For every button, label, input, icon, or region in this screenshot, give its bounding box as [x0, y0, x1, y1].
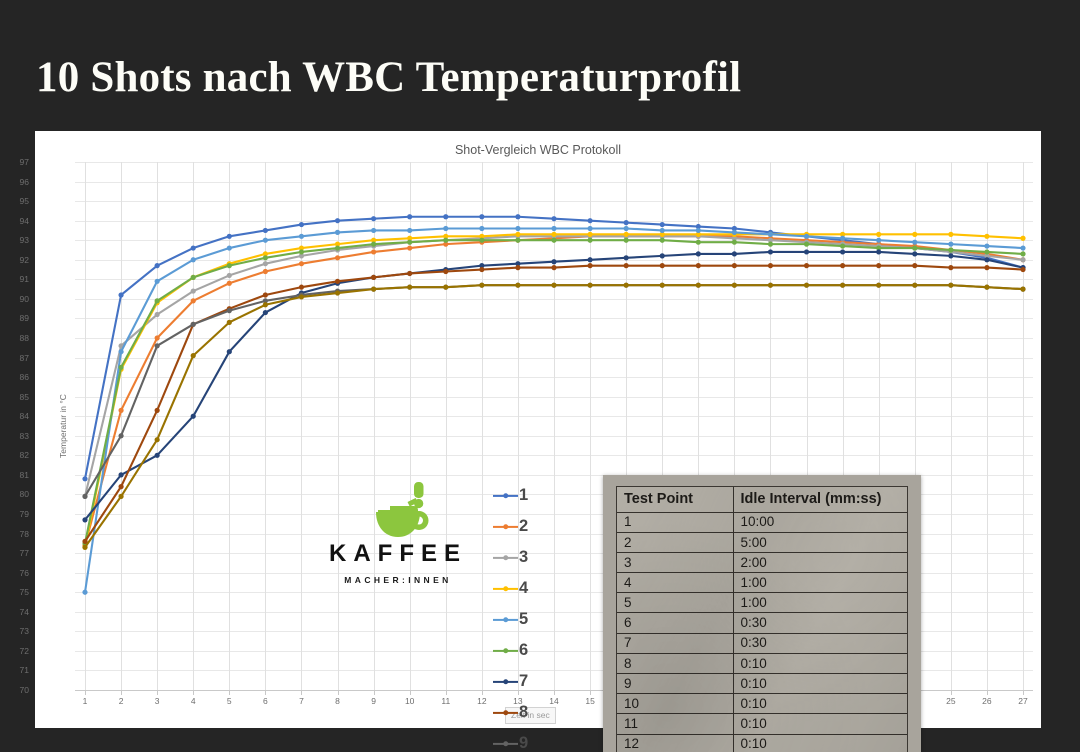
legend-item-label: 5 — [519, 611, 528, 628]
data-point — [984, 249, 989, 254]
data-point — [551, 265, 556, 270]
x-axis-tick-mark — [374, 690, 375, 695]
data-point — [82, 476, 87, 481]
data-point — [840, 249, 845, 254]
data-point — [227, 273, 232, 278]
data-point — [371, 216, 376, 221]
data-point — [155, 298, 160, 303]
data-point — [984, 285, 989, 290]
data-point — [263, 310, 268, 315]
cell-idle-interval: 10:00 — [733, 512, 907, 532]
x-axis-tick-mark — [482, 690, 483, 695]
table-row: 25:00 — [617, 532, 907, 552]
cell-idle-interval: 0:10 — [733, 714, 907, 734]
y-axis-tick-label: 87 — [3, 353, 29, 363]
chart-series-9 — [82, 283, 1025, 499]
data-point — [371, 275, 376, 280]
data-point — [227, 245, 232, 250]
coffee-cup-exclamation-icon — [318, 480, 478, 538]
x-axis-tick-label: 2 — [106, 696, 136, 706]
data-point — [587, 263, 592, 268]
data-point — [407, 285, 412, 290]
data-point — [155, 453, 160, 458]
legend-item-3[interactable]: 3 — [493, 542, 547, 573]
data-point — [299, 261, 304, 266]
data-point — [912, 283, 917, 288]
cell-test-point: 9 — [617, 674, 733, 694]
table-row: 51:00 — [617, 593, 907, 613]
data-point — [804, 249, 809, 254]
legend-item-7[interactable]: 7 — [493, 666, 547, 697]
data-point — [696, 240, 701, 245]
data-point — [335, 230, 340, 235]
data-point — [732, 240, 737, 245]
legend-item-label: 8 — [519, 704, 528, 721]
data-point — [191, 257, 196, 262]
legend-color-swatch — [493, 676, 518, 688]
x-axis-tick-mark — [121, 690, 122, 695]
test-point-table-sheet: Test Point Idle Interval (mm:ss) 110:002… — [616, 486, 908, 752]
x-axis-tick-mark — [265, 690, 266, 695]
data-point — [479, 226, 484, 231]
x-axis-tick-label: 9 — [359, 696, 389, 706]
data-point — [155, 312, 160, 317]
data-point — [263, 292, 268, 297]
data-point — [335, 279, 340, 284]
y-axis-tick-label: 89 — [3, 313, 29, 323]
data-point — [948, 247, 953, 252]
data-point — [299, 285, 304, 290]
table-row: 110:10 — [617, 714, 907, 734]
data-point — [263, 302, 268, 307]
data-point — [191, 298, 196, 303]
x-axis-tick-label: 27 — [1008, 696, 1038, 706]
data-point — [299, 249, 304, 254]
x-axis-tick-label: 10 — [395, 696, 425, 706]
legend-item-6[interactable]: 6 — [493, 635, 547, 666]
data-point — [768, 242, 773, 247]
data-point — [660, 228, 665, 233]
data-point — [876, 232, 881, 237]
data-point — [624, 255, 629, 260]
y-axis-title: Temperatur in °C — [58, 394, 68, 458]
cell-idle-interval: 0:10 — [733, 694, 907, 714]
data-point — [660, 263, 665, 268]
data-point — [804, 242, 809, 247]
data-point — [263, 269, 268, 274]
cell-test-point: 7 — [617, 633, 733, 653]
page-title: 10 Shots nach WBC Temperaturprofil — [36, 54, 1016, 101]
cell-idle-interval: 1:00 — [733, 573, 907, 593]
cell-idle-interval: 0:30 — [733, 633, 907, 653]
data-point — [912, 245, 917, 250]
x-axis-tick-label: 3 — [142, 696, 172, 706]
x-axis-tick-label: 5 — [214, 696, 244, 706]
data-point — [443, 269, 448, 274]
cell-test-point: 10 — [617, 694, 733, 714]
cell-test-point: 6 — [617, 613, 733, 633]
data-point — [624, 220, 629, 225]
legend-item-label: 4 — [519, 580, 528, 597]
cell-test-point: 5 — [617, 593, 733, 613]
cell-test-point: 3 — [617, 552, 733, 572]
data-point — [118, 408, 123, 413]
data-point — [768, 232, 773, 237]
data-point — [479, 214, 484, 219]
data-point — [407, 271, 412, 276]
cell-test-point: 4 — [617, 573, 733, 593]
data-point — [335, 290, 340, 295]
data-point — [299, 294, 304, 299]
cell-idle-interval: 5:00 — [733, 532, 907, 552]
table-row: 60:30 — [617, 613, 907, 633]
legend-color-swatch — [493, 521, 518, 533]
data-point — [479, 238, 484, 243]
cell-idle-interval: 0:30 — [733, 613, 907, 633]
x-axis-tick-mark — [987, 690, 988, 695]
y-axis-tick-label: 71 — [3, 665, 29, 675]
data-point — [551, 232, 556, 237]
brand-logo: KAFFEE MACHER:INNEN — [318, 480, 478, 585]
data-point — [876, 249, 881, 254]
x-axis-tick-mark — [410, 690, 411, 695]
data-point — [443, 226, 448, 231]
cell-idle-interval: 0:10 — [733, 653, 907, 673]
x-axis-tick-mark — [229, 690, 230, 695]
x-axis-tick-mark — [446, 690, 447, 695]
legend-item-5[interactable]: 5 — [493, 604, 547, 635]
data-point — [515, 226, 520, 231]
legend-color-swatch — [493, 738, 518, 750]
y-axis-tick-label: 76 — [3, 568, 29, 578]
data-point — [299, 234, 304, 239]
data-point — [191, 275, 196, 280]
data-point — [191, 414, 196, 419]
data-point — [984, 265, 989, 270]
data-point — [227, 308, 232, 313]
data-point — [587, 283, 592, 288]
chart-series-3 — [82, 234, 1025, 499]
data-point — [587, 218, 592, 223]
data-point — [155, 408, 160, 413]
data-point — [696, 251, 701, 256]
legend-color-swatch — [493, 583, 518, 595]
data-point — [948, 232, 953, 237]
data-point — [371, 249, 376, 254]
data-point — [335, 245, 340, 250]
data-point — [660, 222, 665, 227]
data-point — [948, 242, 953, 247]
x-axis-tick-label: 11 — [431, 696, 461, 706]
y-axis-tick-label: 93 — [3, 235, 29, 245]
legend-item-4[interactable]: 4 — [493, 573, 547, 604]
cell-idle-interval: 2:00 — [733, 552, 907, 572]
logo-wordmark: KAFFEE — [318, 540, 478, 568]
legend-color-swatch — [493, 707, 518, 719]
data-point — [227, 349, 232, 354]
data-point — [263, 238, 268, 243]
y-axis-tick-label: 88 — [3, 333, 29, 343]
data-point — [263, 255, 268, 260]
column-header-test-point: Test Point — [617, 487, 733, 512]
data-point — [804, 263, 809, 268]
y-axis-tick-label: 74 — [3, 607, 29, 617]
x-axis-tick-mark — [85, 690, 86, 695]
data-point — [227, 234, 232, 239]
y-axis-tick-label: 81 — [3, 470, 29, 480]
legend-item-label: 6 — [519, 642, 528, 659]
legend-item-label: 7 — [519, 673, 528, 690]
data-point — [551, 259, 556, 264]
data-point — [876, 263, 881, 268]
cell-test-point: 2 — [617, 532, 733, 552]
data-point — [551, 283, 556, 288]
legend-item-8[interactable]: 8 — [493, 697, 547, 728]
data-point — [696, 263, 701, 268]
cell-test-point: 1 — [617, 512, 733, 532]
y-axis-tick-label: 75 — [3, 587, 29, 597]
data-point — [624, 238, 629, 243]
data-point — [732, 230, 737, 235]
legend-item-label: 2 — [519, 518, 528, 535]
data-point — [587, 232, 592, 237]
data-point — [155, 335, 160, 340]
x-axis-tick-mark — [1023, 690, 1024, 695]
data-point — [1020, 257, 1025, 262]
data-point — [515, 238, 520, 243]
x-axis-tick-mark — [554, 690, 555, 695]
data-point — [1020, 245, 1025, 250]
data-point — [515, 232, 520, 237]
chart-card: Shot-Vergleich WBC Protokoll Temperatur … — [35, 131, 1041, 728]
data-point — [118, 365, 123, 370]
x-axis-tick-label: 6 — [250, 696, 280, 706]
data-point — [912, 263, 917, 268]
data-point — [768, 283, 773, 288]
data-point — [551, 226, 556, 231]
cell-test-point: 12 — [617, 734, 733, 752]
data-point — [82, 517, 87, 522]
logo-subtitle: MACHER:INNEN — [318, 575, 478, 585]
data-point — [660, 253, 665, 258]
chart-title: Shot-Vergleich WBC Protokoll — [35, 143, 1041, 157]
data-point — [984, 234, 989, 239]
data-point — [191, 353, 196, 358]
x-axis-tick-label: 8 — [323, 696, 353, 706]
cell-idle-interval: 1:00 — [733, 593, 907, 613]
data-point — [299, 222, 304, 227]
data-point — [551, 216, 556, 221]
data-point — [624, 283, 629, 288]
cell-idle-interval: 0:10 — [733, 734, 907, 752]
y-axis-tick-label: 77 — [3, 548, 29, 558]
x-axis-tick-mark — [193, 690, 194, 695]
legend-color-swatch — [493, 645, 518, 657]
data-point — [407, 240, 412, 245]
test-point-table-photo: Test Point Idle Interval (mm:ss) 110:002… — [603, 475, 921, 752]
x-axis-tick-label: 4 — [178, 696, 208, 706]
x-axis-tick-label: 25 — [936, 696, 966, 706]
data-point — [624, 226, 629, 231]
data-point — [696, 283, 701, 288]
table-row: 80:10 — [617, 653, 907, 673]
cell-test-point: 8 — [617, 653, 733, 673]
data-point — [82, 590, 87, 595]
table-row: 70:30 — [617, 633, 907, 653]
data-point — [227, 281, 232, 286]
data-point — [1020, 267, 1025, 272]
data-point — [263, 228, 268, 233]
data-point — [191, 288, 196, 293]
data-point — [118, 433, 123, 438]
data-point — [155, 437, 160, 442]
data-point — [227, 320, 232, 325]
data-point — [1020, 287, 1025, 292]
y-axis-tick-label: 86 — [3, 372, 29, 382]
data-point — [227, 263, 232, 268]
test-point-table: Test Point Idle Interval (mm:ss) 110:002… — [617, 487, 907, 752]
x-axis-tick-mark — [338, 690, 339, 695]
legend-color-swatch — [493, 490, 518, 502]
data-point — [948, 265, 953, 270]
y-axis-tick-label: 82 — [3, 450, 29, 460]
legend-item-label: 9 — [519, 735, 528, 752]
data-point — [82, 545, 87, 550]
data-point — [660, 238, 665, 243]
y-axis-tick-label: 92 — [3, 255, 29, 265]
data-point — [515, 214, 520, 219]
data-point — [191, 245, 196, 250]
legend-item-2[interactable]: 2 — [493, 511, 547, 542]
slide-canvas: 10 Shots nach WBC Temperaturprofil Shot-… — [0, 0, 1080, 752]
data-point — [587, 257, 592, 262]
data-point — [984, 243, 989, 248]
x-axis-tick-label: 15 — [575, 696, 605, 706]
data-point — [155, 279, 160, 284]
legend-item-9[interactable]: 9 — [493, 728, 547, 752]
data-point — [1020, 251, 1025, 256]
data-point — [515, 265, 520, 270]
data-point — [155, 263, 160, 268]
data-point — [443, 214, 448, 219]
data-point — [840, 236, 845, 241]
data-point — [840, 263, 845, 268]
legend-item-1[interactable]: 1 — [493, 480, 547, 511]
data-point — [948, 253, 953, 258]
y-axis-tick-label: 83 — [3, 431, 29, 441]
chart-legend: 12345678910 — [493, 480, 547, 752]
y-axis-tick-label: 96 — [3, 177, 29, 187]
table-row: 41:00 — [617, 573, 907, 593]
y-axis-tick-label: 85 — [3, 392, 29, 402]
data-point — [948, 283, 953, 288]
table-row: 90:10 — [617, 674, 907, 694]
data-point — [443, 238, 448, 243]
data-point — [371, 228, 376, 233]
y-axis-tick-label: 78 — [3, 529, 29, 539]
x-axis-tick-mark — [951, 690, 952, 695]
data-point — [1020, 236, 1025, 241]
data-point — [912, 240, 917, 245]
cell-test-point: 11 — [617, 714, 733, 734]
data-point — [587, 226, 592, 231]
data-point — [732, 251, 737, 256]
x-axis-tick-mark — [301, 690, 302, 695]
y-axis-tick-label: 73 — [3, 626, 29, 636]
x-axis-tick-mark — [590, 690, 591, 695]
data-point — [118, 349, 123, 354]
data-point — [479, 283, 484, 288]
data-point — [660, 283, 665, 288]
data-point — [263, 261, 268, 266]
y-axis-tick-label: 80 — [3, 489, 29, 499]
data-point — [118, 484, 123, 489]
data-point — [768, 249, 773, 254]
data-point — [82, 494, 87, 499]
legend-color-swatch — [493, 614, 518, 626]
table-row: 32:00 — [617, 552, 907, 572]
data-point — [804, 283, 809, 288]
y-axis-tick-label: 95 — [3, 196, 29, 206]
column-header-idle-interval: Idle Interval (mm:ss) — [733, 487, 907, 512]
data-point — [912, 232, 917, 237]
y-axis-tick-label: 72 — [3, 646, 29, 656]
data-point — [335, 218, 340, 223]
table-row: 120:10 — [617, 734, 907, 752]
table-row: 110:00 — [617, 512, 907, 532]
data-point — [696, 228, 701, 233]
cell-idle-interval: 0:10 — [733, 674, 907, 694]
legend-item-label: 1 — [519, 487, 528, 504]
data-point — [118, 472, 123, 477]
data-point — [479, 267, 484, 272]
y-axis-tick-label: 91 — [3, 274, 29, 284]
data-point — [155, 343, 160, 348]
data-point — [371, 242, 376, 247]
y-axis-tick-label: 84 — [3, 411, 29, 421]
data-point — [876, 238, 881, 243]
data-point — [732, 283, 737, 288]
y-axis-tick-label: 94 — [3, 216, 29, 226]
data-point — [407, 245, 412, 250]
data-point — [371, 287, 376, 292]
data-point — [984, 257, 989, 262]
data-point — [840, 283, 845, 288]
data-point — [587, 238, 592, 243]
legend-color-swatch — [493, 552, 518, 564]
data-point — [515, 283, 520, 288]
data-point — [191, 322, 196, 327]
table-header-row: Test Point Idle Interval (mm:ss) — [617, 487, 907, 512]
data-point — [443, 285, 448, 290]
data-point — [624, 263, 629, 268]
legend-item-label: 3 — [519, 549, 528, 566]
data-point — [876, 283, 881, 288]
data-point — [335, 255, 340, 260]
x-axis-tick-label: 26 — [972, 696, 1002, 706]
chart-series-1 — [82, 214, 1025, 481]
x-axis-tick-label: 1 — [70, 696, 100, 706]
data-point — [768, 263, 773, 268]
data-point — [118, 494, 123, 499]
data-point — [840, 243, 845, 248]
y-axis-tick-label: 79 — [3, 509, 29, 519]
data-point — [732, 263, 737, 268]
data-point — [912, 251, 917, 256]
data-point — [118, 292, 123, 297]
x-axis-tick-label: 7 — [286, 696, 316, 706]
y-axis-tick-label: 90 — [3, 294, 29, 304]
